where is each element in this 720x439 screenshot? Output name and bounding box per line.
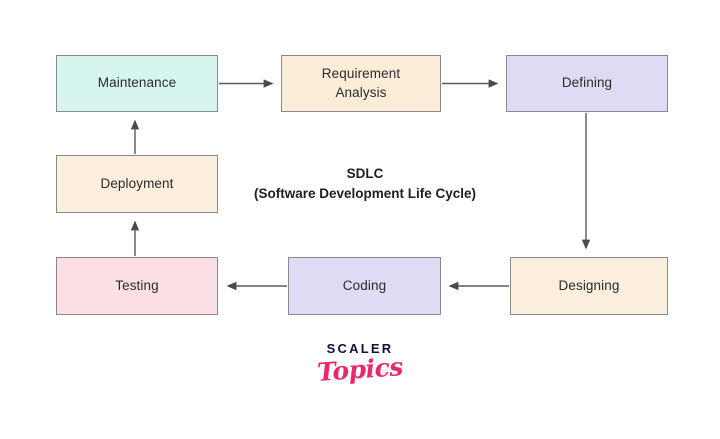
node-coding[interactable]: Coding xyxy=(288,257,441,315)
scaler-topics-logo: SCALER Topics xyxy=(0,342,720,384)
node-deployment-label: Deployment xyxy=(94,175,179,193)
node-defining[interactable]: Defining xyxy=(506,55,668,112)
node-coding-label: Coding xyxy=(337,277,392,295)
node-defining-label: Defining xyxy=(556,74,618,92)
node-deployment[interactable]: Deployment xyxy=(56,155,218,213)
node-designing[interactable]: Designing xyxy=(510,257,668,315)
node-requirement-analysis[interactable]: Requirement Analysis xyxy=(281,55,441,112)
node-maintenance-label: Maintenance xyxy=(92,74,182,92)
node-maintenance[interactable]: Maintenance xyxy=(56,55,218,112)
node-testing[interactable]: Testing xyxy=(56,257,218,315)
diagram-title-expansion: (Software Development Life Cycle) xyxy=(225,184,505,204)
node-requirement-analysis-label: Requirement Analysis xyxy=(316,65,406,101)
node-testing-label: Testing xyxy=(109,277,164,295)
diagram-title-acronym: SDLC xyxy=(225,164,505,184)
diagram-title: SDLC (Software Development Life Cycle) xyxy=(225,164,505,203)
node-designing-label: Designing xyxy=(553,277,626,295)
sdlc-diagram: Maintenance Requirement Analysis Definin… xyxy=(0,0,720,439)
